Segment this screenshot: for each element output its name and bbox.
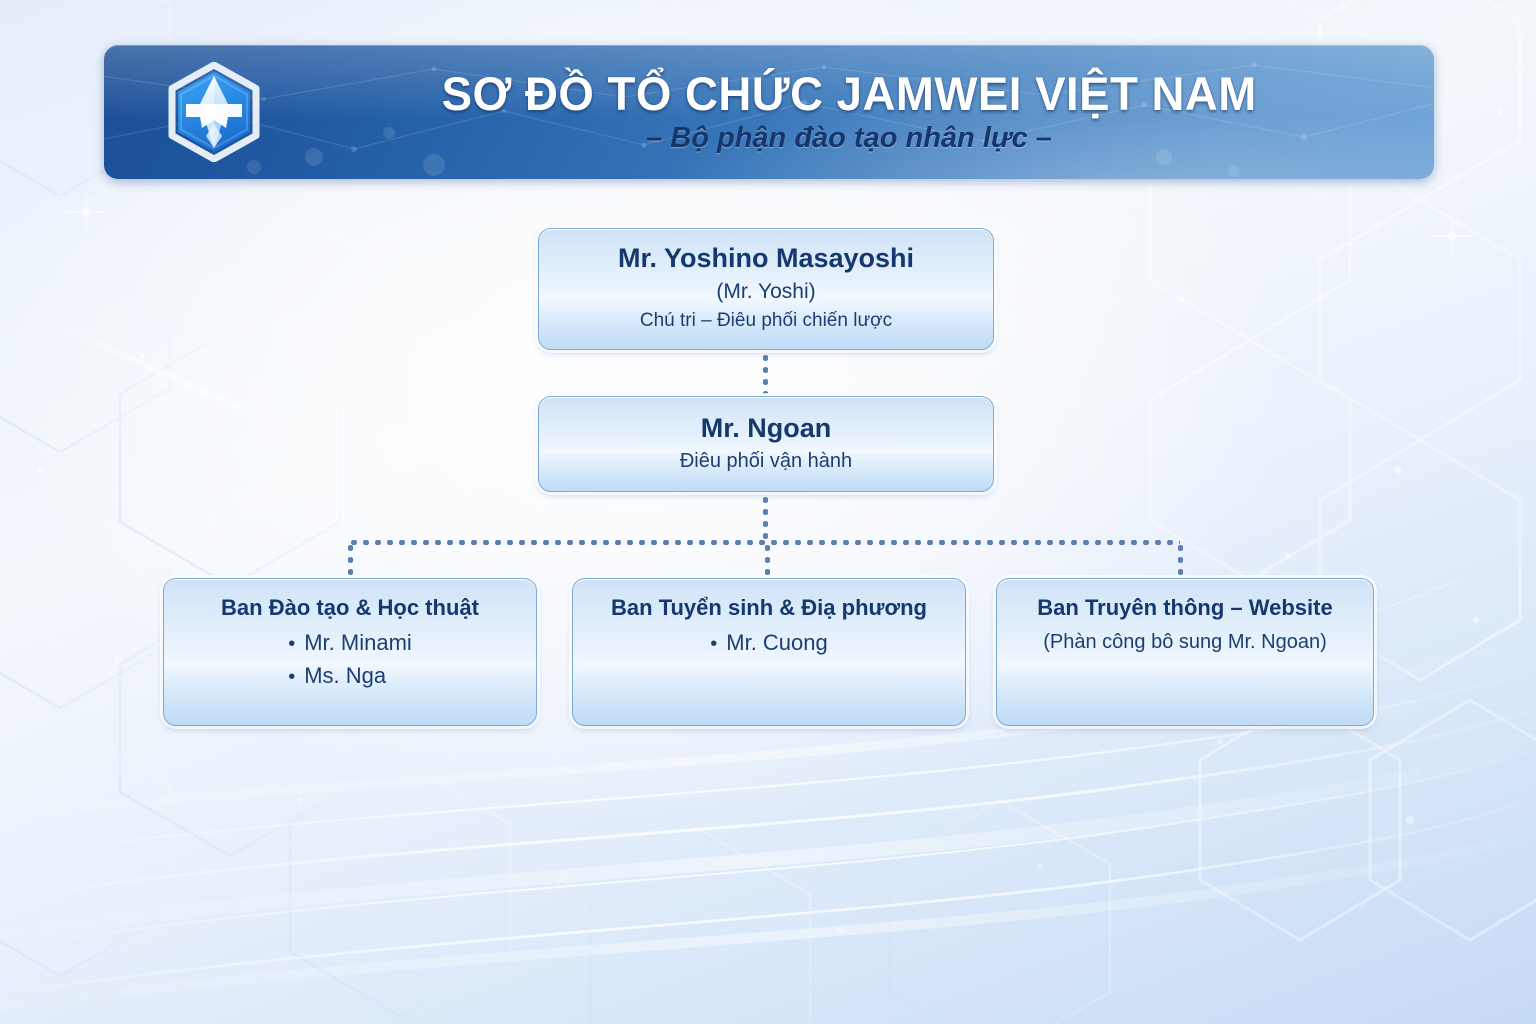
- bullet-icon: •: [288, 667, 295, 687]
- department-member-list: • Mr. Minami • Ms. Nga: [288, 630, 412, 690]
- list-item: • Mr. Minami: [288, 630, 412, 656]
- list-item: • Ms. Nga: [288, 663, 386, 689]
- department-title: Ban Tuyển sinh & Điạ phương: [611, 595, 927, 622]
- org-node-top-role: Chú tri – Điêu phối chiến lược: [640, 308, 892, 333]
- member-name: Mr. Cuong: [726, 630, 828, 656]
- org-node-second[interactable]: Mr. Ngoan Điêu phối vận hành: [538, 396, 994, 492]
- connector-drop-right: [1178, 542, 1183, 580]
- org-node-department-admissions[interactable]: Ban Tuyển sinh & Điạ phương • Mr. Cuong: [572, 578, 966, 726]
- slide-canvas: SƠ ĐỒ TỔ CHỨC JAMWEI VIỆT NAM – Bộ phận …: [0, 0, 1536, 1024]
- org-node-second-name: Mr. Ngoan: [701, 412, 832, 445]
- org-node-department-communications[interactable]: Ban Truyên thông – Website (Phàn công bô…: [996, 578, 1374, 726]
- department-member-list: • Mr. Cuong: [710, 630, 828, 656]
- connector-horizontal-bus: [348, 540, 1180, 545]
- member-name: Ms. Nga: [304, 663, 386, 689]
- bullet-icon: •: [288, 634, 295, 654]
- org-node-second-role: Điêu phối vận hành: [680, 448, 852, 475]
- org-node-top-alias: (Mr. Yoshi): [716, 278, 815, 306]
- org-chart: Mr. Yoshino Masayoshi (Mr. Yoshi) Chú tr…: [0, 0, 1536, 1024]
- connector-second-to-bus: [763, 494, 768, 542]
- member-name: Mr. Minami: [304, 630, 412, 656]
- connector-drop-center: [765, 542, 770, 580]
- org-node-top-name: Mr. Yoshino Masayoshi: [618, 242, 914, 275]
- org-node-department-training[interactable]: Ban Đào tạo & Học thuật • Mr. Minami • M…: [163, 578, 537, 726]
- list-item: • Mr. Cuong: [710, 630, 828, 656]
- department-note: (Phàn công bô sung Mr. Ngoan): [1043, 630, 1327, 655]
- department-title: Ban Đào tạo & Học thuật: [221, 595, 479, 622]
- department-title: Ban Truyên thông – Website: [1037, 595, 1332, 622]
- org-node-top[interactable]: Mr. Yoshino Masayoshi (Mr. Yoshi) Chú tr…: [538, 228, 994, 350]
- bullet-icon: •: [710, 634, 717, 654]
- connector-drop-left: [348, 542, 353, 580]
- connector-top-to-second: [763, 352, 768, 394]
